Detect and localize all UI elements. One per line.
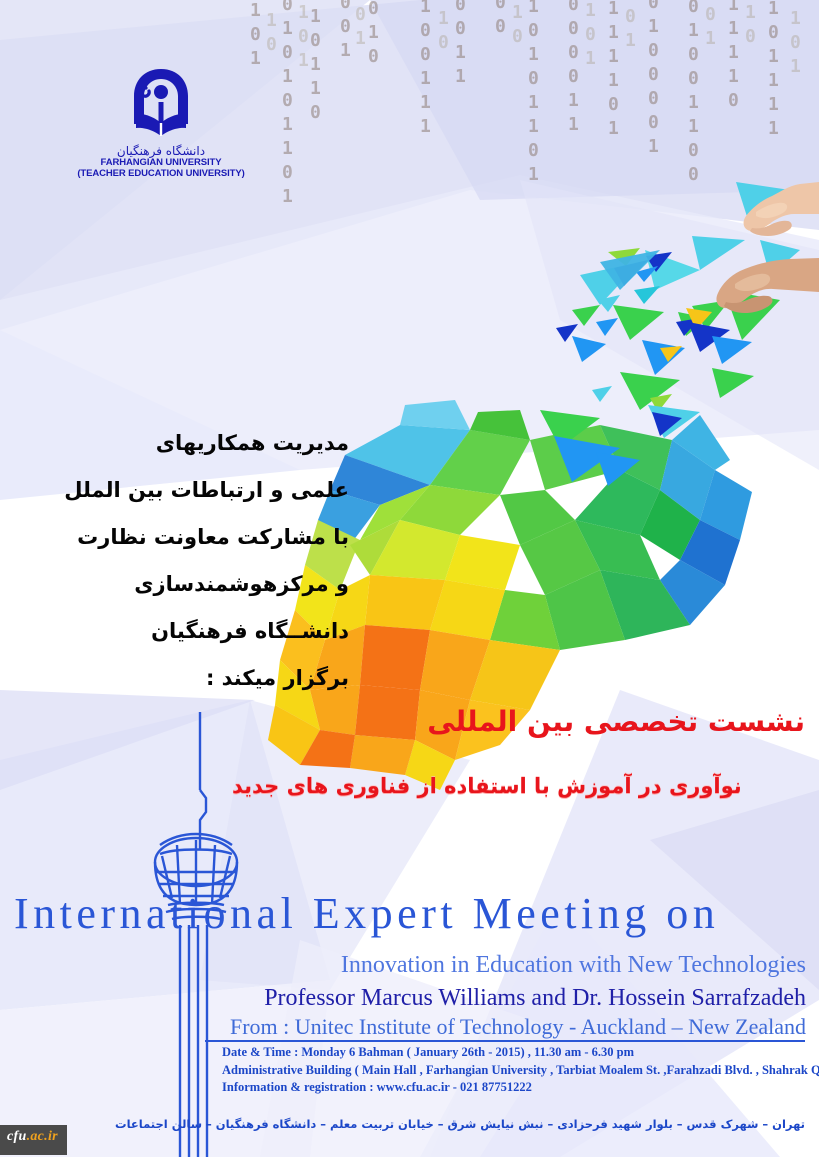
divider bbox=[205, 1040, 805, 1042]
watermark-badge: cfu.ac.ir bbox=[0, 1125, 67, 1155]
page-title: International Expert Meeting on bbox=[14, 888, 804, 940]
subtitle: Innovation in Education with New Technol… bbox=[0, 950, 806, 980]
detail-persian-address: تهران – شهرک قدس – بلوار شهید فرحزادی – … bbox=[205, 1116, 805, 1132]
watermark-domain: .ac.ir bbox=[27, 1129, 58, 1144]
detail-datetime: Date & Time : Monday 6 Bahman ( January … bbox=[222, 1044, 807, 1062]
detail-contact[interactable]: Information & registration : www.cfu.ac.… bbox=[222, 1079, 807, 1097]
poster-canvas: 101 010 101 101 101 10 001 010 100 111 0… bbox=[0, 0, 819, 1157]
affiliation: From : Unitec Institute of Technology - … bbox=[0, 1013, 806, 1041]
watermark-name: cfu bbox=[7, 1129, 27, 1144]
speakers: Professor Marcus Williams and Dr. Hossei… bbox=[0, 983, 806, 1013]
detail-venue: Administrative Building ( Main Hall , Fa… bbox=[222, 1062, 807, 1080]
details-block: Date & Time : Monday 6 Bahman ( January … bbox=[222, 1044, 807, 1097]
